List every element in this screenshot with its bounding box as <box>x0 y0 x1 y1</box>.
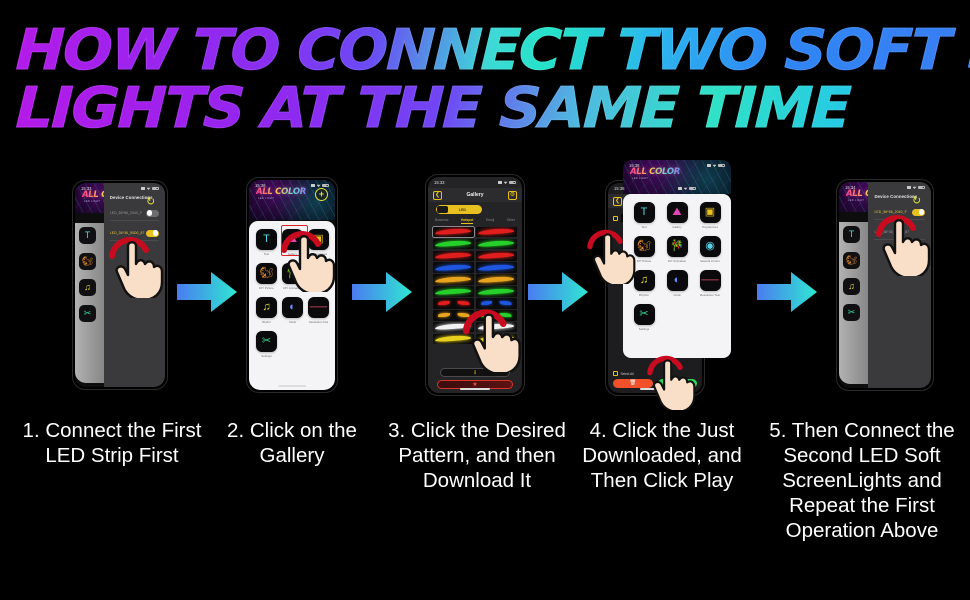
pattern-eye <box>500 301 512 305</box>
diy-picture-icon[interactable]: 🐿 <box>843 252 860 269</box>
network-icon: ◉ <box>700 236 721 257</box>
step-1: 15:33 ALL COLOR LED LIGHT T <box>40 160 200 410</box>
status-indicators <box>141 187 159 191</box>
pattern-eye <box>438 313 450 317</box>
gallery-pattern-item[interactable] <box>433 274 474 285</box>
signal-icon <box>907 186 911 189</box>
settings-icon: ✂ <box>634 304 655 325</box>
device-pill-label: LED <box>459 208 466 212</box>
battery-icon <box>509 181 516 185</box>
pattern-swoosh <box>478 287 515 294</box>
device-name: LED_36*36_50D0_87 <box>110 231 145 235</box>
caption-step-3: 3. Click the Desired Pattern, and then D… <box>388 418 566 493</box>
device-row[interactable]: LED_56*56_2040_F <box>110 210 159 221</box>
pattern-eye <box>438 301 450 305</box>
battery-icon <box>689 187 696 191</box>
diy-animation-icon: 🎋 <box>667 236 688 257</box>
programmed-icon: ▣ <box>308 229 329 250</box>
gallery-pattern-item[interactable] <box>433 227 474 238</box>
caption-step-5: 5. Then Connect the Second LED Soft Scre… <box>758 418 966 543</box>
battery-icon <box>322 184 329 188</box>
rhythm-icon: ♫ <box>256 297 277 318</box>
pattern-swoosh <box>435 240 472 247</box>
wifi-icon <box>684 187 688 190</box>
app-label: Resolution Test <box>309 320 329 324</box>
device-thumb-icon <box>437 206 448 213</box>
app-item-rhythm[interactable]: ♫ Rhythm <box>256 297 277 324</box>
app-label: Rhythm <box>639 293 649 297</box>
tab-emoji[interactable]: Emoji <box>486 218 494 224</box>
gallery-pattern-item[interactable] <box>433 262 474 273</box>
refresh-icon[interactable]: ↻ <box>146 197 157 208</box>
app-item-programmed[interactable]: ▣ Programmed <box>308 229 329 256</box>
gallery-pattern-item[interactable] <box>476 298 517 309</box>
app-item-settings[interactable]: ✂ Settings <box>630 304 658 331</box>
row-checkbox[interactable] <box>613 216 618 221</box>
gallery-pattern-item[interactable] <box>476 286 517 297</box>
device-name: LED_36*36_50D0_87 <box>874 230 909 234</box>
pattern-swoosh <box>478 240 515 247</box>
status-indicators <box>498 181 516 185</box>
programmed-icon: ▣ <box>700 202 721 223</box>
gallery-tabs: Business Hotspot Emoji Other <box>433 214 517 227</box>
status-indicators <box>678 187 696 191</box>
caption-step-2: 2. Click on the Gallery <box>206 418 378 468</box>
wifi-icon <box>317 184 321 187</box>
device-connections-panel-5: Device Connections ↻ LED_56*56_2040_F LE… <box>868 182 931 388</box>
title-line-2: LIGHTS AT THE SAME TIME <box>15 80 970 138</box>
gallery-title: Gallery <box>467 192 484 198</box>
phone-1: 15:33 ALL COLOR LED LIGHT T <box>72 180 168 390</box>
gallery-pattern-item[interactable] <box>476 310 517 321</box>
captions-row: 1. Connect the First LED Strip First 2. … <box>0 418 970 588</box>
status-time: 15:33 <box>434 180 444 185</box>
status-bar-3: 15:33 <box>428 177 522 188</box>
arrow-1-to-2 <box>177 270 239 319</box>
gallery-body: LED Business Hotspot Emoji Other ⭳ ★ <box>428 202 522 393</box>
app-label: DIY Animation <box>283 286 301 290</box>
settings-icon: ✂ <box>256 331 277 352</box>
status-time: 15:36 <box>255 183 265 188</box>
gallery-pattern-grid <box>433 227 517 345</box>
steps-row: 15:33 ALL COLOR LED LIGHT T <box>0 160 970 410</box>
signal-icon <box>311 184 315 187</box>
device-selector-pill[interactable]: LED <box>436 205 482 214</box>
gallery-pattern-item[interactable] <box>476 334 517 345</box>
home-indicator <box>460 388 490 390</box>
pattern-eye <box>481 301 493 305</box>
app-item-text[interactable]: T Text <box>256 229 277 256</box>
device-toggle[interactable] <box>146 210 159 217</box>
gallery-pattern-item[interactable] <box>433 239 474 250</box>
battery-icon <box>152 187 159 191</box>
app-label: Network Control <box>700 259 721 263</box>
pattern-swoosh <box>435 275 472 282</box>
pattern-swoosh <box>435 323 472 330</box>
network-icon: ◉ <box>308 263 329 284</box>
brand-subtitle: LED LIGHT <box>848 199 864 202</box>
app-item-resolution[interactable]: ⸺ Resolution Test <box>308 297 329 324</box>
app-item-diy-animation[interactable]: 🎋 DIY Animation <box>282 263 303 290</box>
status-indicators <box>311 184 329 188</box>
diy-picture-icon[interactable]: 🐿 <box>79 253 96 270</box>
app-item-programmed[interactable]: ▣ Programmed <box>696 202 724 229</box>
tab-business[interactable]: Business <box>435 218 448 224</box>
gallery-pattern-item[interactable] <box>433 286 474 297</box>
app-strip-list-1: T 🐿 ♫ ✂ <box>79 227 105 331</box>
gallery-icon: ⛰ <box>667 202 688 223</box>
app-item-diy-picture[interactable]: 🐿 DIY Picture <box>256 263 277 290</box>
app-item-text[interactable]: T Text <box>630 202 658 229</box>
app-grid: T Text ⛰ Gallery ▣ Programmed 🐿 <box>630 202 724 331</box>
signal-icon <box>498 181 502 184</box>
back-arrow-icon[interactable]: ❮ <box>613 197 622 206</box>
resolution-icon: ⸺ <box>700 270 721 291</box>
app-item-settings[interactable]: ✂ Settings <box>256 331 277 358</box>
brand-subtitle: LED LIGHT <box>632 177 648 180</box>
pattern-eye <box>458 301 470 305</box>
app-item-gallery[interactable]: ⛰ Gallery <box>663 202 691 229</box>
brand-subtitle: LED LIGHT <box>84 200 100 203</box>
pattern-eye <box>500 313 512 317</box>
app-grid-sheet-4: T Text ⛰ Gallery ▣ Programmed 🐿 <box>623 194 731 358</box>
status-bar-4b: 15:38 <box>623 160 731 171</box>
gallery-pattern-item[interactable] <box>433 251 474 262</box>
app-label: DIY Animation <box>668 259 686 263</box>
device-connections-panel-1: Device Connections ↻ LED_56*56_2040_F LE… <box>104 183 165 387</box>
status-time: 15:38 <box>614 186 624 191</box>
status-bar-5: 15:34 <box>839 182 931 193</box>
home-indicator <box>278 385 306 387</box>
app-label: Text <box>641 225 646 229</box>
step-2: 15:36 ALL COLOR LED LIGHT + <box>222 160 362 410</box>
pattern-eye <box>458 313 470 317</box>
app-item-network[interactable]: ◉ Network Control <box>308 263 329 290</box>
device-toggle[interactable] <box>912 209 925 216</box>
gallery-pattern-item[interactable] <box>433 298 474 309</box>
device-row[interactable]: LED_36*36_50D0_87 <box>110 230 159 241</box>
gallery-pattern-item[interactable] <box>476 239 517 250</box>
battery-icon <box>918 186 925 190</box>
rhythm-icon: ♫ <box>634 270 655 291</box>
gear-icon[interactable]: ⚙ <box>508 191 517 200</box>
app-label: Settings <box>639 327 649 331</box>
status-indicators <box>707 164 725 168</box>
refresh-icon[interactable]: ↻ <box>912 196 923 207</box>
app-label: Resolution Test <box>700 293 720 297</box>
device-row[interactable]: LED_56*56_2040_F <box>874 209 925 220</box>
pattern-swoosh <box>435 264 472 271</box>
phone-3: 15:33 ❮ Gallery ⚙ <box>425 174 525 396</box>
rhythm-icon[interactable]: ♫ <box>79 279 96 296</box>
app-label: Programmed <box>702 225 719 229</box>
tab-other[interactable]: Other <box>507 218 515 224</box>
device-row[interactable]: LED_36*36_50D0_87 <box>874 229 925 240</box>
phone-2: 15:36 ALL COLOR LED LIGHT + <box>246 177 338 393</box>
brand-subtitle: LED LIGHT <box>258 197 274 200</box>
status-time: 15:33 <box>81 186 91 191</box>
gallery-pattern-item[interactable] <box>476 274 517 285</box>
tab-hotspot[interactable]: Hotspot <box>461 218 473 224</box>
gallery-pattern-item[interactable] <box>476 262 517 273</box>
home-indicator <box>640 388 670 390</box>
back-arrow-icon[interactable]: ❮ <box>433 191 442 200</box>
status-time: 15:38 <box>629 163 639 168</box>
pattern-swoosh <box>435 335 472 342</box>
app-label: Clock <box>289 320 296 324</box>
gallery-pattern-item[interactable] <box>476 251 517 262</box>
pattern-eyes <box>476 310 517 321</box>
gallery-pattern-item[interactable] <box>433 310 474 321</box>
program-action-buttons: 🗑 ▶ <box>613 379 697 388</box>
app-item-clock[interactable]: ◐ Clock <box>663 270 691 297</box>
gallery-pattern-item[interactable] <box>476 227 517 238</box>
wifi-icon <box>147 187 151 190</box>
status-bar-2: 15:36 <box>249 180 335 191</box>
app-item-rhythm[interactable]: ♫ Rhythm <box>630 270 658 297</box>
gallery-nav-bar: ❮ Gallery ⚙ <box>428 188 522 202</box>
app-item-diy-animation[interactable]: 🎋 DIY Animation <box>663 236 691 263</box>
app-item-diy-picture[interactable]: 🐿 DIY Picture <box>630 236 658 263</box>
status-indicators <box>907 186 925 190</box>
status-bar-4: 15:38 <box>608 183 702 194</box>
app-label: Text <box>264 252 269 256</box>
clock-icon: ◐ <box>282 297 303 318</box>
device-name: LED_56*56_2040_F <box>874 210 906 214</box>
pattern-eyes <box>433 298 474 309</box>
app-item-resolution[interactable]: ⸺ Resolution Test <box>696 270 724 297</box>
step-5: 15:34 ALL COLOR LED LIGHT T <box>805 160 965 410</box>
status-bar-1: 15:33 <box>75 183 165 194</box>
settings-icon[interactable]: ✂ <box>79 305 96 322</box>
device-toggle[interactable] <box>146 230 159 237</box>
gallery-pattern-item[interactable] <box>433 334 474 345</box>
app-label: Gallery <box>672 225 681 229</box>
app-label: Clock <box>673 293 680 297</box>
diy-picture-icon: 🐿 <box>634 236 655 257</box>
play-button[interactable]: ▶ <box>658 379 698 388</box>
text-icon[interactable]: T <box>79 227 96 244</box>
title-line-1: HOW TO CONNECT TWO SOFT SCREEN <box>15 22 970 80</box>
infographic-page: HOW TO CONNECT TWO SOFT SCREEN LIGHTS AT… <box>0 0 970 600</box>
status-time: 15:34 <box>845 185 855 190</box>
pattern-swoosh <box>478 335 515 342</box>
arrow-3-to-4 <box>528 270 590 319</box>
phone-5: 15:34 ALL COLOR LED LIGHT T <box>836 179 934 391</box>
wifi-icon <box>504 181 508 184</box>
highlight-box-gallery <box>281 225 308 256</box>
caption-step-1: 1. Connect the First LED Strip First <box>22 418 202 468</box>
step-4: 15:38 ❮ Program <box>575 160 735 410</box>
pattern-swoosh <box>435 228 472 235</box>
app-label: Programmed <box>310 252 327 256</box>
caption-step-4: 4. Click the Just Downloaded, and Then C… <box>572 418 752 493</box>
wifi-icon <box>913 186 917 189</box>
app-label: DIY Picture <box>259 286 274 290</box>
wifi-icon <box>713 164 717 167</box>
rhythm-icon[interactable]: ♫ <box>843 278 860 295</box>
page-title: HOW TO CONNECT TWO SOFT SCREEN LIGHTS AT… <box>16 22 946 138</box>
diy-animation-icon: 🎋 <box>282 263 303 284</box>
app-brand-header-2: 15:36 ALL COLOR LED LIGHT + <box>249 180 335 220</box>
pattern-eyes <box>433 310 474 321</box>
arrow-4-to-5 <box>757 270 819 319</box>
arrow-2-to-3 <box>352 270 414 319</box>
battery-icon <box>718 164 725 168</box>
pattern-swoosh <box>435 252 472 259</box>
signal-icon <box>678 187 682 190</box>
pattern-eye <box>481 313 493 317</box>
pattern-swoosh <box>435 287 472 294</box>
text-icon: T <box>634 202 655 223</box>
gallery-pattern-item[interactable] <box>476 322 517 333</box>
app-strip-list-5: T 🐿 ♫ ✂ <box>843 226 869 330</box>
clock-icon: ◐ <box>667 270 688 291</box>
gallery-pattern-item[interactable] <box>433 322 474 333</box>
text-icon[interactable]: T <box>843 226 860 243</box>
app-label: Network Control <box>308 286 329 290</box>
app-label: Rhythm <box>262 320 272 324</box>
text-icon: T <box>256 229 277 250</box>
pattern-swoosh <box>478 323 515 330</box>
pattern-swoosh <box>478 228 515 235</box>
pattern-swoosh <box>478 252 515 259</box>
resolution-icon: ⸺ <box>308 297 329 318</box>
diy-picture-icon: 🐿 <box>256 263 277 284</box>
settings-icon[interactable]: ✂ <box>843 304 860 321</box>
pattern-eyes <box>476 298 517 309</box>
signal-icon <box>707 164 711 167</box>
app-label: Settings <box>261 354 271 358</box>
delete-button[interactable]: 🗑 <box>613 379 653 388</box>
app-item-clock[interactable]: ◐ Clock <box>282 297 303 324</box>
app-item-network[interactable]: ◉ Network Control <box>696 236 724 263</box>
app-label: DIY Picture <box>637 259 652 263</box>
signal-icon <box>141 187 145 190</box>
select-all-checkbox[interactable] <box>613 371 618 376</box>
download-button[interactable]: ⭳ <box>440 368 510 377</box>
pattern-swoosh <box>478 264 515 271</box>
pattern-swoosh <box>478 275 515 282</box>
device-name: LED_56*56_2040_F <box>110 211 142 215</box>
